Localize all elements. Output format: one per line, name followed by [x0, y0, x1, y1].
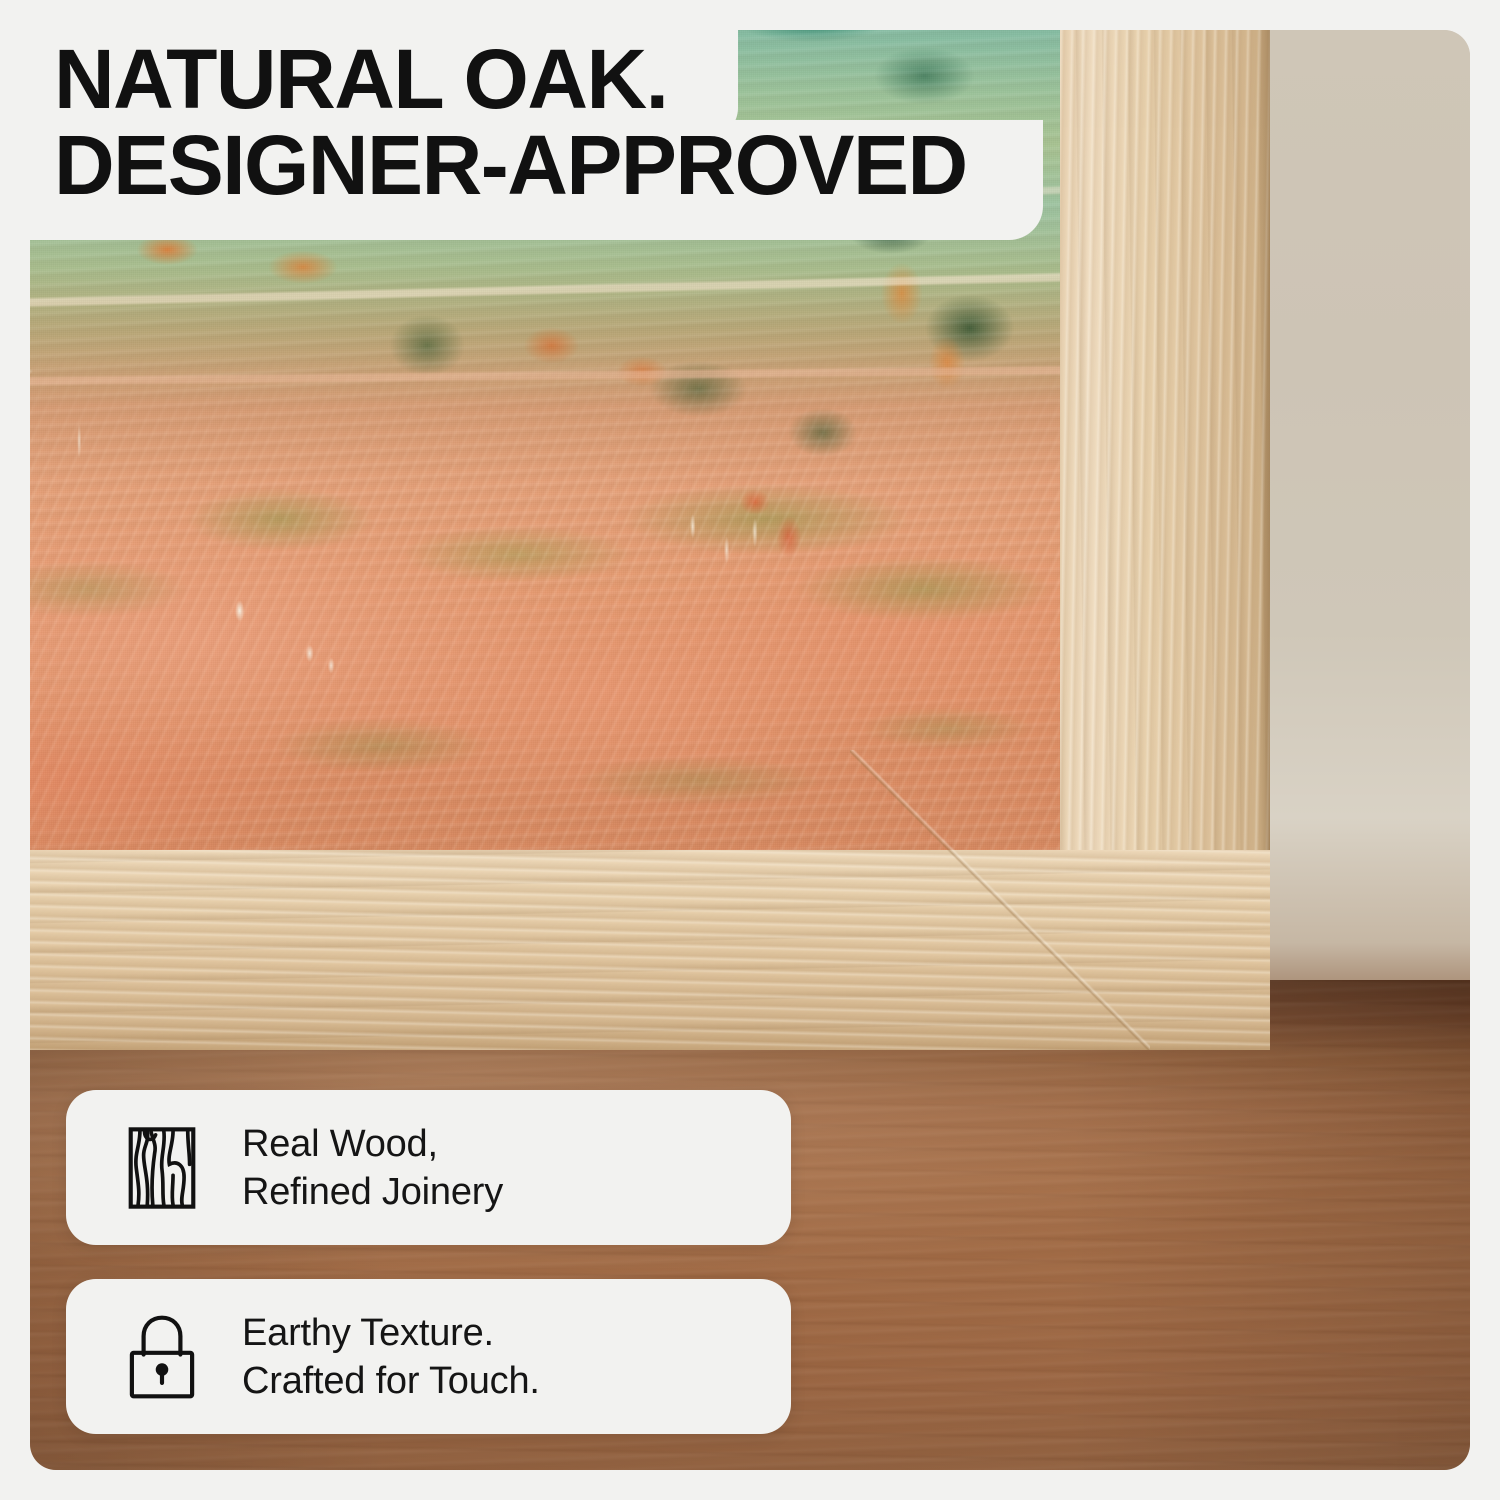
wood-grain-icon — [110, 1116, 214, 1220]
feature-card-label: Real Wood, Refined Joinery — [242, 1120, 503, 1216]
frame-bottom-rail — [30, 850, 1270, 1050]
paint-canvas-weave — [30, 30, 1060, 850]
oak-picture-frame — [30, 30, 1270, 1050]
padlock-icon — [110, 1305, 214, 1409]
frame-horizontal-grain — [30, 850, 1270, 1050]
artwork-window — [30, 30, 1060, 850]
product-marketing-image: NATURAL OAK. DESIGNER-APPROVED Real Wood… — [0, 0, 1500, 1500]
feature-card-earthy-texture: Earthy Texture. Crafted for Touch. — [66, 1279, 791, 1434]
feature-card-list: Real Wood, Refined Joinery Earthy Textur… — [66, 1090, 791, 1468]
feature-card-real-wood: Real Wood, Refined Joinery — [66, 1090, 791, 1245]
feature-card-label: Earthy Texture. Crafted for Touch. — [242, 1309, 540, 1405]
landscape-painting — [30, 30, 1060, 850]
